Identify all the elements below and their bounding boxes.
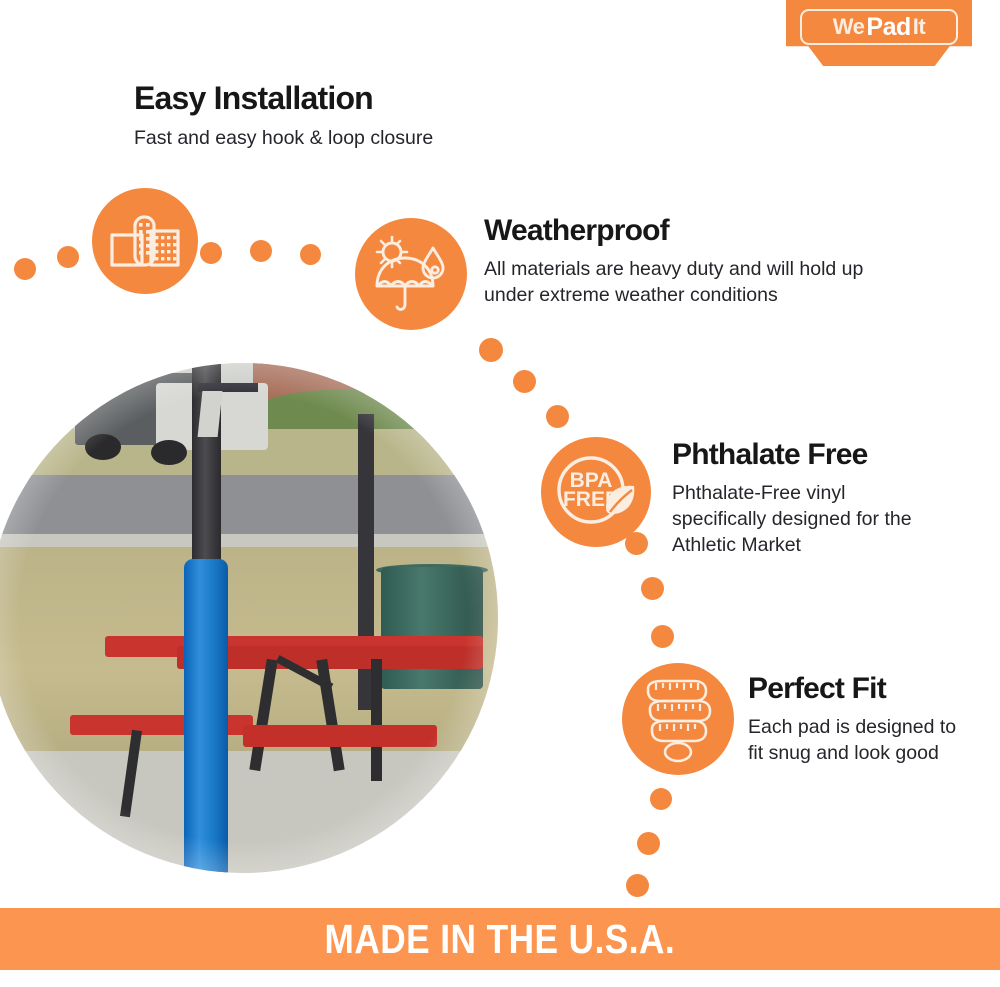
path-dot: [626, 874, 649, 897]
logo-badge: WePadIt: [800, 9, 958, 45]
brand-logo: WePadIt: [786, 0, 972, 66]
feature-title-perfect-fit: Perfect Fit: [748, 672, 886, 706]
bpa-free-leaf-icon: BPA FREE: [541, 437, 651, 547]
photo-vehicle-tire: [151, 440, 187, 466]
path-dot: [14, 258, 36, 280]
path-dot: [300, 244, 321, 265]
made-in-usa-text: MADE IN THE U.S.A.: [325, 916, 676, 963]
feature-title-phthalate-free: Phthalate Free: [672, 438, 868, 472]
umbrella-sun-rain-icon: [355, 218, 467, 330]
path-dot: [641, 577, 664, 600]
photo-table-leg: [371, 659, 382, 781]
measuring-tape-icon: [622, 663, 734, 775]
photo-bench-seat: [243, 725, 437, 746]
path-dot: [637, 832, 660, 855]
path-dot: [200, 242, 222, 264]
photo-trash-barrel: [381, 567, 483, 689]
photo-road: [0, 475, 498, 536]
path-dot: [250, 240, 272, 262]
building-installation-icon: [92, 188, 198, 294]
photo-scene: [0, 363, 498, 873]
photo-blue-pole-pad: [184, 559, 228, 873]
path-dot: [57, 246, 79, 268]
path-dot: [513, 370, 536, 393]
logo-text-pad: Pad: [864, 13, 912, 42]
feature-title-easy-installation: Easy Installation: [134, 80, 373, 117]
photo-vehicle-tire: [85, 434, 121, 460]
logo-text-we: We: [833, 14, 865, 40]
feature-title-weatherproof: Weatherproof: [484, 214, 669, 248]
logo-text-it: It: [913, 14, 925, 40]
path-dot: [479, 338, 503, 362]
made-in-usa-banner: MADE IN THE U.S.A.: [0, 908, 1000, 970]
feature-description-easy-installation: Fast and easy hook & loop closure: [134, 126, 554, 152]
blue-pole-pad-outdoor-photo: [0, 363, 498, 873]
path-dot: [651, 625, 674, 648]
path-dot: [546, 405, 569, 428]
path-dot: [650, 788, 672, 810]
feature-description-phthalate-free: Phthalate-Free vinyl specifically design…: [672, 481, 937, 559]
infographic-page: WePadIt Easy Installation Fast and easy …: [0, 0, 1000, 987]
feature-description-perfect-fit: Each pad is designed to fit snug and loo…: [748, 715, 976, 767]
photo-pole-plate: [197, 391, 222, 437]
feature-description-weatherproof: All materials are heavy duty and will ho…: [484, 257, 904, 309]
